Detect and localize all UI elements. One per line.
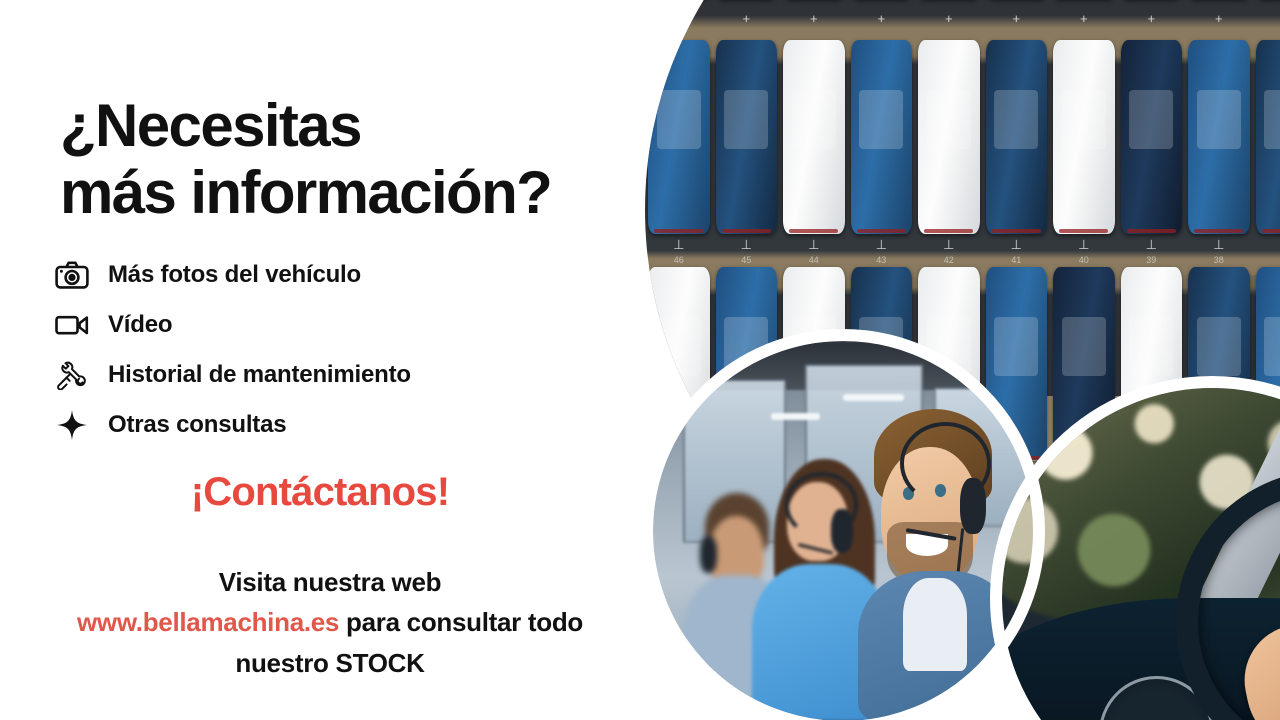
camera-icon — [50, 257, 94, 293]
website-line-3: nuestro STOCK — [0, 643, 660, 683]
speedometer-gauge — [1099, 676, 1214, 720]
ceiling-light — [843, 394, 904, 401]
callcenter-circle-outline — [641, 329, 1045, 720]
driver-hand — [1234, 611, 1280, 720]
video-camera-icon — [50, 307, 94, 343]
parking-lot-surface: +++++ +++++ ++ ⊥⊥⊥⊥⊥ ⊥⊥⊥⊥⊥ ⊥⊥ — [645, 0, 1280, 615]
lot-lane-line-1 — [645, 460, 1280, 461]
lot-shadow — [1082, 275, 1280, 486]
car-row-middle — [645, 40, 1280, 234]
list-item: Vídeo — [50, 300, 650, 350]
list-item-label: Otras consultas — [108, 411, 286, 439]
list-item-label: Más fotos del vehículo — [108, 261, 361, 289]
office-window — [683, 379, 786, 543]
windshield-view — [1002, 388, 1280, 623]
website-line-1: Visita nuestra web — [0, 562, 660, 602]
office-window — [805, 364, 923, 543]
agent-man-foreground — [858, 409, 1018, 720]
ceiling-light — [904, 421, 946, 428]
office-window — [934, 387, 1029, 528]
car-dashboard — [1002, 598, 1280, 720]
promo-banner: +++++ +++++ ++ ⊥⊥⊥⊥⊥ ⊥⊥⊥⊥⊥ ⊥⊥ — [0, 0, 1280, 720]
windshield-pillar — [1190, 415, 1280, 630]
feature-list: Más fotos del vehículo Vídeo — [50, 250, 650, 450]
aerial-parking-lot-photo: +++++ +++++ ++ ⊥⊥⊥⊥⊥ ⊥⊥⊥⊥⊥ ⊥⊥ — [645, 0, 1280, 615]
lot-space-numbers: 4645444342 4140393837 3635 — [645, 255, 1280, 265]
list-item-label: Vídeo — [108, 311, 172, 339]
office-background — [653, 341, 1033, 720]
website-line-2-rest: para consultar todo — [339, 607, 583, 637]
website-line-2: www.bellamachina.es para consultar todo — [0, 602, 660, 642]
headline-line-2: más información? — [60, 159, 680, 226]
lot-marks-row1: +++++ +++++ ++ — [645, 12, 1280, 26]
steering-wheel — [1176, 470, 1280, 720]
banner-text-content: ¿Necesitas más información? Más fotos de… — [0, 0, 660, 720]
lot-lane-line-2 — [645, 549, 1280, 550]
contact-call-to-action: ¡Contáctanos! — [0, 470, 640, 515]
lot-ground — [645, 396, 1280, 615]
agent-background — [680, 493, 794, 720]
list-item: Historial de mantenimiento — [50, 350, 650, 400]
website-url[interactable]: www.bellamachina.es — [77, 607, 339, 637]
office-desk — [653, 660, 1033, 720]
lot-marks-row2: ⊥⊥⊥⊥⊥ ⊥⊥⊥⊥⊥ ⊥⊥ — [645, 238, 1280, 252]
wrench-hand-icon — [50, 357, 94, 393]
car-row-bottom — [645, 267, 1280, 461]
website-info: Visita nuestra web www.bellamachina.es p… — [0, 562, 660, 683]
agent-woman — [752, 459, 889, 720]
page-title: ¿Necesitas más información? — [60, 92, 680, 226]
headline-line-1: ¿Necesitas — [60, 92, 680, 159]
office-ceiling — [653, 341, 1033, 390]
call-center-agents-photo — [653, 341, 1033, 720]
list-item: Otras consultas — [50, 400, 650, 450]
driver-steering-wheel-photo — [1002, 388, 1280, 720]
ceiling-light — [771, 413, 820, 420]
list-item: Más fotos del vehículo — [50, 250, 650, 300]
sparkle-icon — [50, 407, 94, 443]
driving-circle-outline — [990, 376, 1280, 720]
list-item-label: Historial de mantenimiento — [108, 361, 411, 389]
